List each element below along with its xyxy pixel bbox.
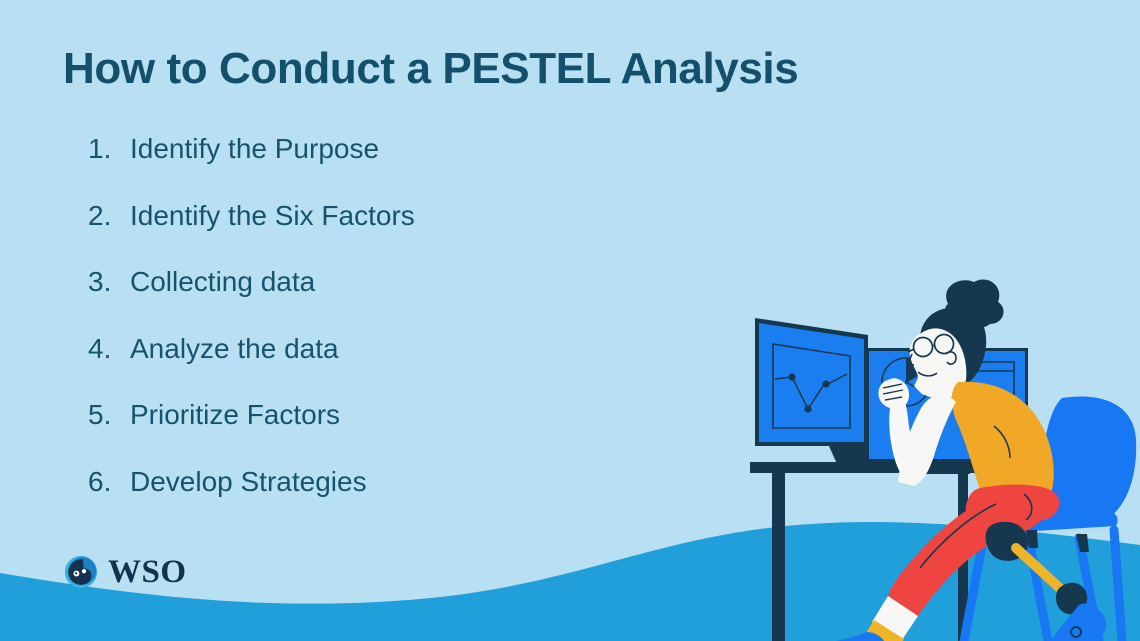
- list-item: 5. Prioritize Factors: [88, 399, 415, 466]
- step-number: 5.: [88, 399, 130, 431]
- logo-wordmark: WSO: [108, 556, 187, 589]
- list-item: 1. Identify the Purpose: [88, 133, 415, 200]
- step-label: Develop Strategies: [130, 466, 367, 498]
- step-label: Collecting data: [130, 266, 315, 298]
- step-number: 2.: [88, 200, 130, 232]
- list-item: 6. Develop Strategies: [88, 466, 415, 533]
- page-title: How to Conduct a PESTEL Analysis: [63, 44, 798, 94]
- step-label: Identify the Six Factors: [130, 200, 415, 232]
- step-number: 1.: [88, 133, 130, 165]
- step-number: 6.: [88, 466, 130, 498]
- illustration-person-at-desk: [742, 276, 1140, 641]
- step-label: Identify the Purpose: [130, 133, 379, 165]
- left-monitor-line-chart: [755, 318, 868, 464]
- steps-list: 1. Identify the Purpose 2. Identify the …: [88, 133, 415, 532]
- globe-icon: [62, 553, 100, 591]
- step-number: 4.: [88, 333, 130, 365]
- list-item: 3. Collecting data: [88, 266, 415, 333]
- list-item: 4. Analyze the data: [88, 333, 415, 400]
- slide-canvas: How to Conduct a PESTEL Analysis 1. Iden…: [0, 0, 1140, 641]
- step-label: Prioritize Factors: [130, 399, 340, 431]
- step-label: Analyze the data: [130, 333, 339, 365]
- list-item: 2. Identify the Six Factors: [88, 200, 415, 267]
- step-number: 3.: [88, 266, 130, 298]
- brand-logo: WSO: [62, 553, 187, 591]
